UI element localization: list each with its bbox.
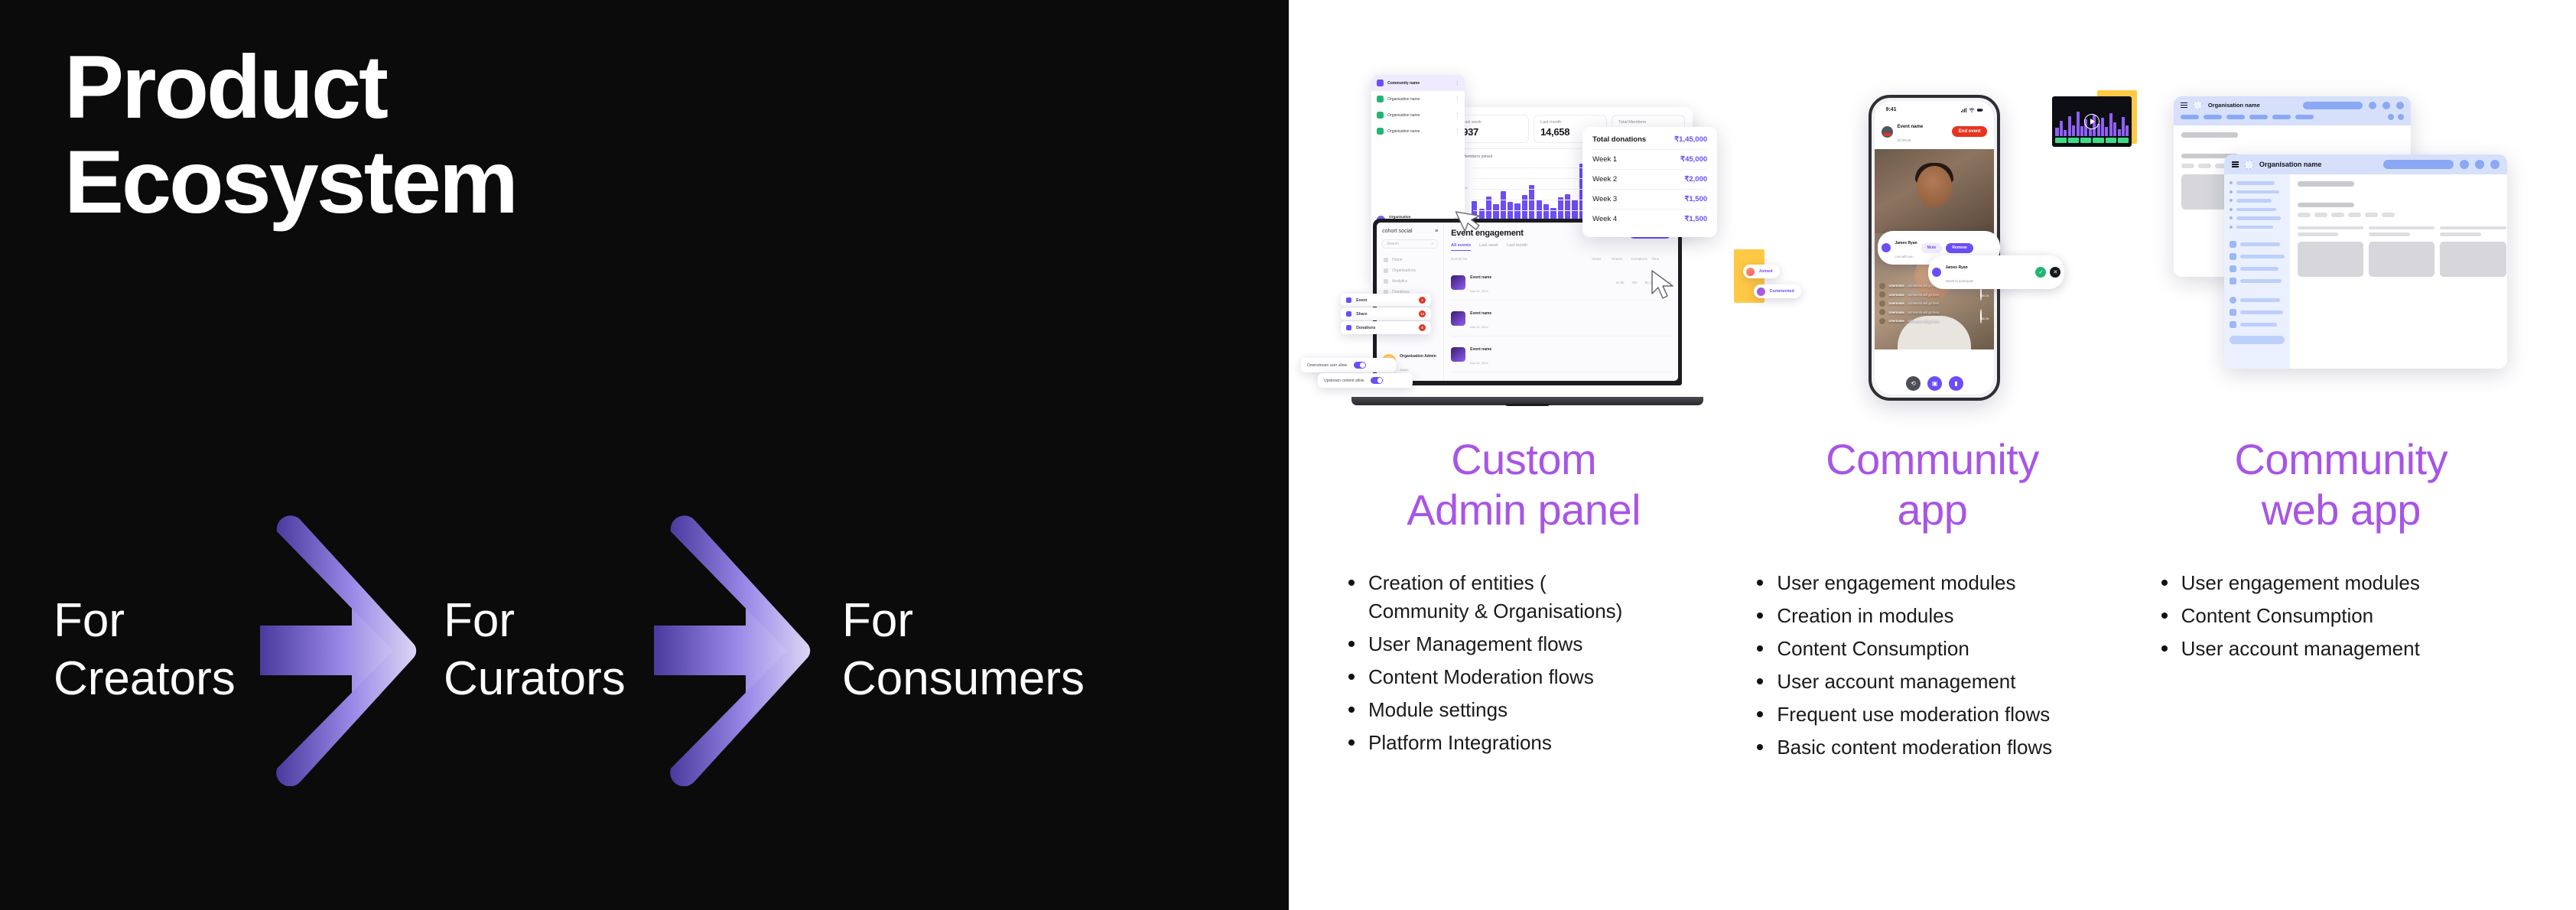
comment-feed: Usernamecomments will go here Usernameco… [1879, 283, 1960, 327]
list-item: Basic content moderation flows [1751, 733, 2057, 762]
analytics-icon [1384, 279, 1388, 284]
section-heading-placeholder [2298, 203, 2354, 208]
search-placeholder: Search [1387, 242, 1399, 246]
tab-last-month[interactable]: Last month [1507, 243, 1527, 251]
product-column-community-app: 9:41 Event name 00:05:59 [1728, 0, 2136, 910]
community-name: Community name [1387, 81, 1420, 86]
column-title-community-web-app: Community web app [2234, 434, 2448, 535]
subnav-icon[interactable] [2398, 114, 2404, 120]
page-title: Product Ecosystem [64, 40, 516, 229]
org-name: Organisation name [1387, 129, 1420, 134]
web-main-content [2290, 174, 2507, 369]
donations-icon [1346, 325, 1351, 330]
audience-flow-diagram: For Creators For Curators [54, 535, 1224, 765]
window-titlebar: Organisation name [2224, 154, 2507, 174]
toggle-switch[interactable] [1371, 377, 1383, 384]
commenter-name: Username [1888, 301, 1904, 305]
battery-icon [1977, 108, 1983, 112]
phone-action-bar: ⟲ ▣ ▮ [1875, 376, 1994, 391]
mic-icon[interactable]: ▮ [1949, 376, 1963, 391]
event-date: Mar 24, 2024 [1470, 325, 1488, 329]
event-name: Event name [1470, 275, 1491, 280]
org-menu-icon[interactable]: ⋮ [1455, 112, 1459, 118]
commenter-name: Username [1888, 319, 1904, 323]
org-name: Organisation name [1387, 113, 1420, 118]
table-row[interactable]: Event nameMar 24, 2024 20.8k 300 $2,439 … [1451, 265, 1671, 301]
org-row[interactable]: Organisation name ⋮ [1371, 91, 1465, 107]
sidebar-item-label: Analytics [1392, 279, 1407, 284]
col-views: Views [1592, 257, 1612, 261]
section-heading-placeholder [2181, 132, 2238, 138]
toggle-label: Upstream content allow [1324, 379, 1364, 383]
event-thumbnail [1451, 275, 1465, 290]
page-title-line-2: Ecosystem [64, 135, 516, 229]
sidebar-cta-button[interactable] [2230, 336, 2285, 344]
subnav-icon[interactable] [2388, 114, 2394, 120]
home-icon [1384, 258, 1388, 262]
web-sidebar [2224, 174, 2290, 369]
window-subnav [2174, 114, 2411, 125]
org-logo-icon [2194, 101, 2202, 109]
sidebar-module[interactable] [2230, 278, 2285, 284]
float-chip-label: Event [1356, 298, 1367, 303]
sidebar-item-home[interactable]: Home [1382, 255, 1438, 265]
events-table-header: Events list Views Shares Donations Time [1451, 257, 1671, 261]
float-chip-share[interactable]: Share 12 [1341, 307, 1431, 320]
toggle-downstream-user-allow[interactable]: Downstream user allow [1301, 358, 1396, 372]
status-badge: 12 [1419, 310, 1426, 317]
video-tile-host [1875, 149, 1994, 233]
filter-chip[interactable] [2198, 164, 2211, 168]
sidebar-link[interactable] [2230, 190, 2285, 194]
sidebar-module[interactable] [2230, 309, 2285, 316]
event-shares: 300 [1631, 281, 1637, 284]
community-app-mockup: 9:41 Event name 00:05:59 [1728, 0, 2136, 428]
community-menu-icon[interactable]: ⋮ [1455, 80, 1459, 86]
pip-video-preview[interactable] [2052, 96, 2132, 147]
sidebar-link[interactable] [2230, 226, 2285, 229]
activity-tag-label: Commented [1769, 289, 1794, 294]
commenter-name: Username [1888, 293, 1904, 297]
event-avatar [1882, 126, 1893, 138]
nav-pill[interactable] [2295, 115, 2314, 119]
avatar[interactable] [2396, 102, 2404, 109]
donations-week-label: Week 3 [1592, 195, 1617, 203]
search-pill[interactable] [2303, 102, 2363, 109]
event-name: Event name [1470, 311, 1491, 316]
col-donations: Donations [1631, 257, 1651, 261]
list-item: User engagement modules [1751, 569, 2057, 597]
list-item: Creation of entities ( Community & Organ… [1342, 569, 1648, 626]
notification-icon[interactable] [2369, 102, 2376, 109]
column-title-admin-panel: Custom Admin panel [1407, 434, 1641, 535]
phone-event-timer: 00:05:59 [1897, 138, 1911, 142]
org-name: Organisation name [1387, 97, 1420, 102]
filter-chip[interactable] [2181, 164, 2194, 168]
float-chip-label: Donations [1356, 326, 1375, 330]
search-pill[interactable] [2383, 160, 2454, 169]
end-event-button[interactable]: End event [1952, 126, 1988, 137]
content-card[interactable] [2440, 223, 2506, 236]
donations-head-label: Total donations [1592, 135, 1646, 144]
flow-label-curators: For Curators [444, 592, 654, 707]
flow-arrow-2-icon [654, 515, 815, 786]
donations-week-value: ₹1,500 [1684, 195, 1707, 203]
tab-all-events[interactable]: All events [1451, 243, 1471, 251]
camera-flip-icon[interactable]: ⟲ [1906, 376, 1921, 391]
filter-chips [2298, 213, 2506, 217]
org-menu-icon[interactable]: ⋮ [1455, 96, 1459, 102]
event-thumbnail [1451, 311, 1465, 326]
flow-arrow-1-icon [260, 515, 421, 786]
event-thumbnail [1451, 347, 1465, 362]
donations-row: Week 2 ₹2,000 [1592, 170, 1707, 190]
request-status: Wants to participate [1945, 279, 1973, 283]
requester-name: James Ryan [1945, 265, 1967, 270]
tab-last-week[interactable]: Last week [1479, 243, 1498, 251]
comment-text: comments will go here [1908, 293, 1940, 297]
table-row[interactable]: Event nameMar 24, 2024 [1451, 372, 1671, 381]
flow-label-creators: For Creators [54, 592, 260, 707]
list-item: User account management [1751, 668, 2057, 696]
column-title-community-app: Community app [1826, 434, 2039, 535]
commenter-avatar [1879, 283, 1885, 289]
filter-chip[interactable] [2331, 213, 2344, 217]
org-icon [1384, 268, 1388, 273]
list-item: Module settings [1342, 696, 1648, 724]
list-item: Usernamecomments will go here [1879, 301, 1960, 307]
participant-status: Live with you [1895, 255, 1913, 258]
play-icon[interactable] [2084, 114, 2100, 129]
avatar [1932, 268, 1941, 277]
list-item: User engagement modules [2155, 569, 2461, 597]
filter-chip[interactable] [2365, 213, 2378, 217]
filter-chip[interactable] [2348, 213, 2361, 217]
comment-text: comments will go here [1908, 301, 1940, 305]
hamburger-icon[interactable] [2181, 102, 2187, 109]
stat-value: 937 [1462, 126, 1522, 138]
col-time: Time [1651, 257, 1671, 261]
list-item: Usernamecomments will go here [1879, 318, 1960, 324]
sidebar-link[interactable] [2230, 216, 2285, 220]
decline-button[interactable]: ✕ [2050, 267, 2060, 278]
donations-week-label: Week 4 [1592, 215, 1617, 223]
event-icon [1346, 297, 1351, 303]
notification-icon[interactable] [2460, 160, 2469, 169]
avatar [1757, 288, 1765, 296]
chart-bar [1529, 185, 1534, 220]
stat-label: Last month [1540, 120, 1600, 125]
org-logo-icon [1377, 128, 1384, 135]
feature-list-admin-panel: Creation of entities ( Community & Organ… [1319, 569, 1728, 761]
signal-icon [1961, 108, 1967, 112]
chart-bar [1565, 194, 1570, 220]
activity-tag-joined: Joined [1743, 265, 1779, 278]
content-card-row [2298, 242, 2506, 277]
phone-event-header: Event name 00:05:59 End event [1875, 115, 1994, 149]
sidebar-link[interactable] [2230, 199, 2285, 203]
commenter-avatar [1879, 301, 1885, 307]
accept-button[interactable]: ✓ [2035, 267, 2046, 278]
comment-count: 60.2k [1982, 294, 1989, 297]
comment-text: comments will go here [1908, 310, 1940, 314]
sidebar-profile[interactable] [2230, 297, 2285, 304]
org-logo-icon [1377, 96, 1384, 102]
status-time: 9:41 [1885, 107, 1896, 112]
list-item: Content Consumption [2155, 602, 2461, 630]
share-count: 60.2k [1982, 317, 1989, 320]
donations-week-value: ₹1,500 [1684, 215, 1707, 223]
activity-tag-label: Joined [1758, 269, 1772, 274]
nav-pill[interactable] [2204, 115, 2222, 119]
col-shares: Shares [1612, 257, 1631, 261]
sidebar-module[interactable] [2230, 253, 2285, 260]
toggle-upstream-content-allow[interactable]: Upstream content allow [1318, 373, 1413, 388]
content-card[interactable] [2298, 223, 2363, 236]
browser-window-front: Organisation name [2224, 154, 2507, 369]
wifi-icon [1969, 108, 1975, 112]
commenter-avatar [1879, 291, 1885, 297]
stat-last-week: Last week 937 [1456, 115, 1529, 143]
list-item: Content Consumption [1751, 635, 2057, 663]
list-item: Usernamecomments will go here [1879, 309, 1960, 315]
donations-week-value: ₹45,000 [1680, 155, 1707, 164]
filter-chip[interactable] [2298, 213, 2311, 217]
donations-week-label: Week 2 [1592, 175, 1617, 184]
nav-pill[interactable] [2249, 115, 2268, 119]
admin-tabs: All events Last week Last month [1451, 243, 1671, 251]
hamburger-icon[interactable] [2232, 161, 2239, 167]
chart-title: Members joined [1462, 154, 1492, 159]
left-panel: Product Ecosystem For Creators For Curat… [0, 0, 1289, 910]
float-chip-donations[interactable]: Donations 6 [1341, 321, 1431, 334]
activity-tag-commented: Commented [1754, 284, 1800, 298]
donations-row: Week 1 ₹45,000 [1592, 150, 1707, 170]
sidebar-item-label: Home [1392, 258, 1402, 262]
stat-label: Last week [1462, 120, 1522, 125]
list-item: Platform Integrations [1342, 729, 1648, 757]
sidebar-item-analytics[interactable]: Analytics [1382, 276, 1438, 287]
stat-label: Total Members [1618, 120, 1678, 125]
host-face [1917, 166, 1952, 207]
chart-bar [1514, 203, 1520, 220]
phone-event-name: Event name [1897, 125, 1923, 129]
float-chip-label: Share [1356, 312, 1367, 317]
section-heading-placeholder [2298, 181, 2354, 187]
list-item: Content Moderation flows [1342, 663, 1648, 691]
community-header[interactable]: Community name ⋮ [1371, 75, 1465, 91]
table-row[interactable]: Event nameMar 24, 2024 [1451, 336, 1671, 372]
commenter-name: Username [1888, 310, 1904, 314]
commenter-name: Username [1888, 284, 1904, 288]
event-name: Event name [1470, 347, 1491, 352]
share-icon [1346, 311, 1351, 317]
admin-panel-mockup: Last week 937 Last month 14,658 Total Me… [1319, 0, 1728, 428]
content-card[interactable] [2440, 242, 2506, 277]
chart-bar [1543, 204, 1549, 220]
list-item: Frequent use moderation flows [1751, 700, 2057, 729]
community-web-app-mockup: Organisation name [2137, 0, 2545, 428]
pip-timeline [2055, 138, 2129, 143]
messages-icon[interactable] [2382, 102, 2390, 109]
org-row[interactable]: Organisation name ⋮ [1371, 123, 1465, 139]
remove-button[interactable]: Remove [1946, 243, 1973, 253]
chart-bar [1493, 204, 1498, 220]
toggle-switch[interactable] [1354, 362, 1366, 369]
flow-label-consumers: For Consumers [842, 592, 1094, 707]
window-title: Organisation name [2259, 161, 2322, 168]
sidebar-item-organisations[interactable]: Organisations [1382, 265, 1438, 276]
comment-text: comments will go here [1908, 319, 1940, 323]
camera-icon[interactable]: ▣ [1927, 376, 1942, 391]
filter-chip[interactable] [2314, 213, 2327, 217]
list-item: User Management flows [1342, 630, 1648, 658]
page-title-line-1: Product [64, 40, 516, 135]
donations-row: Week 3 ₹1,500 [1592, 190, 1707, 210]
total-donations-card: Total donations ₹1,45,000 Week 1 ₹45,000… [1582, 127, 1717, 237]
community-logo-icon [1377, 80, 1384, 86]
hamburger-icon[interactable]: ≡ [1435, 229, 1438, 234]
sidebar-module[interactable] [2230, 321, 2285, 328]
event-date: Mar 24, 2024 [1470, 289, 1488, 293]
donations-row: Week 4 ₹1,500 [1592, 210, 1707, 229]
event-date: Mar 24, 2024 [1470, 361, 1488, 365]
content-card[interactable] [2369, 223, 2435, 236]
list-item: User account management [2155, 635, 2461, 663]
admin-user-name: Organisation Admin [1400, 354, 1436, 359]
events-table-body: Event nameMar 24, 2024 20.8k 300 $2,439 … [1451, 265, 1671, 381]
status-badge: 1 [1419, 297, 1426, 304]
product-column-admin-panel: Last week 937 Last month 14,658 Total Me… [1319, 0, 1728, 910]
participant-name: James Ryan [1895, 241, 1917, 245]
col-events-list: Events list [1451, 257, 1592, 261]
nav-pill[interactable] [2181, 115, 2199, 119]
product-column-community-web-app: Organisation name [2137, 0, 2545, 910]
org-row[interactable]: Organisation name ⋮ [1371, 107, 1465, 123]
admin-user-role: Admin [1400, 368, 1408, 372]
table-row[interactable]: Event nameMar 24, 2024 [1451, 301, 1671, 336]
avatar[interactable] [2490, 160, 2500, 169]
chart-bar [1501, 191, 1506, 220]
join-request-card: James Ryan Wants to participate ✓ ✕ [1928, 255, 2064, 289]
right-panel: Last week 937 Last month 14,658 Total Me… [1289, 0, 2576, 910]
search-icon: ⌕ [1431, 242, 1433, 246]
chart-bar [1558, 197, 1563, 220]
list-item: Usernamecomments will go here [1879, 291, 1960, 297]
feature-list-community-web-app: User engagement modules Content Consumpt… [2137, 569, 2545, 668]
content-card-row [2298, 223, 2506, 236]
avatar [1882, 243, 1891, 252]
float-chip-event[interactable]: Event 1 [1341, 294, 1431, 307]
org-logo-icon [1377, 112, 1384, 119]
search-input[interactable]: Search ⌕ [1382, 239, 1438, 249]
event-views: 20.8k [1616, 281, 1625, 284]
donations-week-value: ₹2,000 [1684, 175, 1707, 184]
window-title: Organisation name [2208, 102, 2260, 109]
admin-main: Event engagement Schedule event All even… [1444, 223, 1678, 381]
chart-bar [1508, 202, 1513, 220]
donations-head-row: Total donations ₹1,45,000 [1592, 135, 1707, 150]
sidebar-module[interactable] [2230, 241, 2285, 248]
toggle-label: Downstream user allow [1307, 363, 1347, 368]
window-body [2224, 174, 2507, 369]
content-card[interactable] [2298, 242, 2363, 277]
sidebar-link[interactable] [2230, 181, 2285, 185]
list-item: Creation in modules [1751, 602, 2057, 630]
phone-status-bar: 9:41 [1875, 101, 1994, 115]
org-logo-icon [2245, 161, 2253, 169]
feature-list-community-app: User engagement modules Creation in modu… [1728, 569, 2136, 765]
chart-bar [1522, 195, 1527, 220]
content-card[interactable] [2369, 242, 2435, 277]
sidebar-module[interactable] [2230, 265, 2285, 272]
admin-brand-label: cohort social [1382, 229, 1412, 234]
mute-button[interactable]: Mute [1921, 243, 1943, 253]
org-menu-icon[interactable]: ⋮ [1455, 128, 1459, 134]
status-badge: 6 [1419, 324, 1426, 331]
commenter-avatar [1879, 309, 1885, 315]
filter-chip[interactable] [2382, 213, 2395, 217]
nav-pill[interactable] [2226, 115, 2245, 119]
donations-week-label: Week 1 [1592, 155, 1617, 164]
window-titlebar: Organisation name [2174, 96, 2411, 114]
sidebar-item-label: Organisations [1392, 268, 1416, 273]
sidebar-link[interactable] [2230, 208, 2285, 212]
donations-head-value: ₹1,45,000 [1674, 135, 1707, 144]
messages-icon[interactable] [2475, 160, 2484, 169]
nav-pill[interactable] [2272, 115, 2291, 119]
avatar [1746, 268, 1755, 276]
commenter-avatar [1879, 318, 1885, 324]
laptop-notch [1505, 404, 1550, 406]
